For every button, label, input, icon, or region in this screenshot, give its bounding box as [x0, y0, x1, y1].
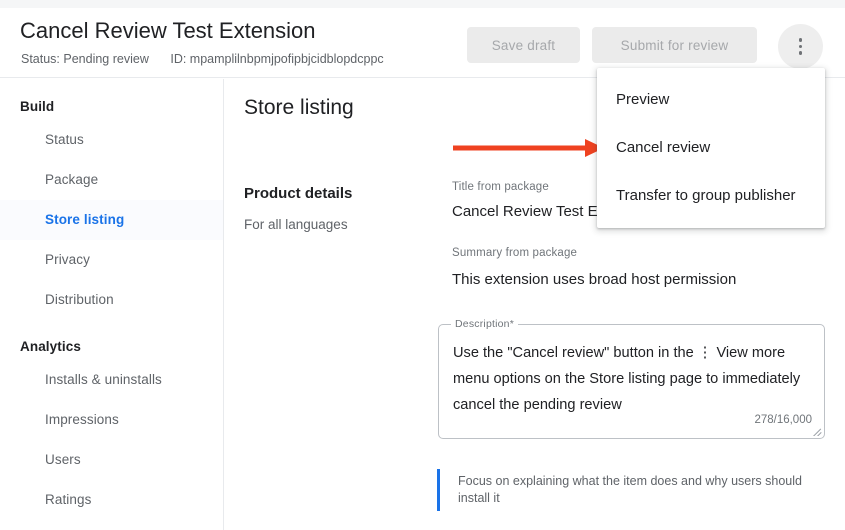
sidebar-item-ratings[interactable]: Ratings [0, 480, 223, 520]
submit-for-review-button[interactable]: Submit for review [592, 27, 757, 63]
description-input[interactable]: Use the "Cancel review" button in the ⋮ … [453, 340, 810, 418]
description-field[interactable]: Description* Use the "Cancel review" but… [438, 324, 825, 439]
menu-item-transfer-to-group-publisher[interactable]: Transfer to group publisher [597, 172, 825, 220]
menu-item-preview[interactable]: Preview [597, 76, 825, 124]
sidebar-item-installs-uninstalls[interactable]: Installs & uninstalls [0, 360, 223, 400]
description-hint-text: Focus on explaining what the item does a… [458, 473, 810, 507]
sidebar-item-privacy[interactable]: Privacy [0, 240, 223, 280]
sidebar-item-users[interactable]: Users [0, 440, 223, 480]
save-draft-button[interactable]: Save draft [467, 27, 580, 63]
store-listing-heading: Store listing [244, 96, 354, 120]
summary-from-package-value: This extension uses broad host permissio… [452, 271, 736, 288]
dots-vertical-icon [799, 45, 802, 48]
window-top-strip [0, 0, 845, 8]
sidebar-group-analytics: Analytics [0, 334, 223, 360]
sidebar-item-package[interactable]: Package [0, 160, 223, 200]
page-title: Cancel Review Test Extension [20, 18, 316, 44]
dots-vertical-icon [799, 38, 802, 41]
sidebar-item-distribution[interactable]: Distribution [0, 280, 223, 320]
more-options-button[interactable] [778, 24, 823, 69]
description-label: Description* [451, 318, 518, 330]
extension-id-text: ID: mpamplilnbpmjpofipbjcidblopdcppc [170, 52, 383, 66]
resize-handle-icon[interactable] [813, 427, 822, 436]
sidebar-item-store-listing[interactable]: Store listing [0, 200, 223, 240]
description-character-counter: 278/16,000 [754, 414, 812, 426]
status-text: Status: Pending review [21, 52, 149, 66]
menu-item-cancel-review[interactable]: Cancel review [597, 124, 825, 172]
sidebar: Build Status Package Store listing Priva… [0, 79, 224, 530]
sidebar-item-status[interactable]: Status [0, 120, 223, 160]
more-options-menu: Preview Cancel review Transfer to group … [597, 68, 825, 228]
sidebar-group-build: Build [0, 94, 223, 120]
description-hint-callout: Focus on explaining what the item does a… [437, 469, 827, 511]
header-meta: Status: Pending review ID: mpamplilnbpmj… [21, 52, 384, 66]
product-details-heading: Product details [244, 185, 352, 202]
summary-from-package-label: Summary from package [452, 247, 577, 259]
sidebar-item-impressions[interactable]: Impressions [0, 400, 223, 440]
product-details-subtext: For all languages [244, 217, 348, 232]
dots-vertical-icon [799, 51, 802, 54]
title-from-package-label: Title from package [452, 181, 549, 193]
